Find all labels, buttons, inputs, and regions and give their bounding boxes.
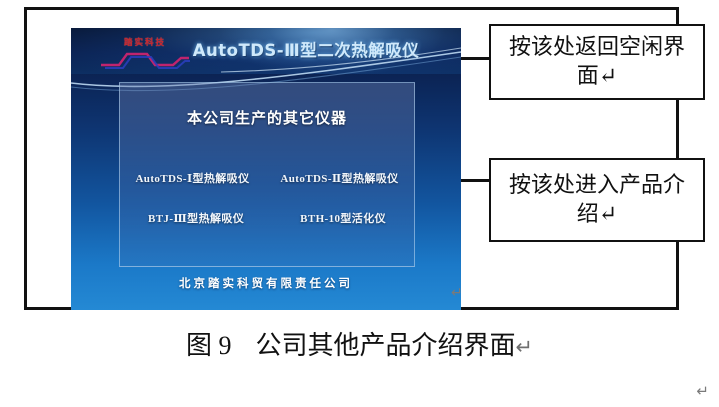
page-return-mark: ↵	[696, 384, 709, 399]
waveform-logo-icon	[99, 48, 191, 70]
company-name: 北京踏实科贸有限责任公司	[71, 275, 461, 291]
screen-footer-bar: 北京踏实科贸有限责任公司	[71, 266, 461, 310]
brand-logo-text: 踏实科技	[99, 36, 191, 48]
product-item-btj-3[interactable]: BTJ-Ⅲ型热解吸仪	[148, 210, 244, 226]
screen-header-bar: 踏实科技 AutoTDS-Ⅲ型二次热解吸仪	[71, 28, 461, 74]
brand-logo: 踏实科技	[99, 36, 191, 68]
callout-connector-line	[461, 57, 491, 60]
callout-text: 按该处返回空闲界面↵	[491, 33, 703, 90]
panel-heading: 本公司生产的其它仪器	[120, 107, 414, 128]
figure-number: 图 9	[186, 331, 232, 360]
screen-title: AutoTDS-Ⅲ型二次热解吸仪	[181, 37, 431, 61]
screenshot-return-mark: ↵	[451, 286, 463, 300]
product-item-autotds-1[interactable]: AutoTDS-Ⅰ型热解吸仪	[135, 170, 249, 186]
figure-outer-frame: 踏实科技 AutoTDS-Ⅲ型二次热解吸仪 本公司生产的其它仪器 AutoTDS…	[24, 7, 679, 310]
figure-title: 公司其他产品介绍界面	[256, 331, 516, 360]
callout-connector-line	[461, 179, 491, 182]
other-products-panel: 本公司生产的其它仪器 AutoTDS-Ⅰ型热解吸仪 AutoTDS-Ⅱ型热解吸仪…	[119, 82, 415, 267]
callout-box-return-to-idle: 按该处返回空闲界面↵	[489, 24, 705, 100]
figure-caption: 图 9公司其他产品介绍界面↵	[0, 325, 719, 362]
caption-return-mark: ↵	[516, 335, 533, 359]
callout-box-enter-product-intro: 按该处进入产品介绍↵	[489, 158, 705, 242]
device-screen: 踏实科技 AutoTDS-Ⅲ型二次热解吸仪 本公司生产的其它仪器 AutoTDS…	[71, 28, 461, 310]
product-item-autotds-2[interactable]: AutoTDS-Ⅱ型热解吸仪	[280, 170, 398, 186]
product-row: BTJ-Ⅲ型热解吸仪 BTH-10型活化仪	[120, 210, 414, 226]
callout-text: 按该处进入产品介绍↵	[491, 171, 703, 228]
product-item-bth-10[interactable]: BTH-10型活化仪	[300, 210, 386, 226]
product-row: AutoTDS-Ⅰ型热解吸仪 AutoTDS-Ⅱ型热解吸仪	[120, 170, 414, 186]
